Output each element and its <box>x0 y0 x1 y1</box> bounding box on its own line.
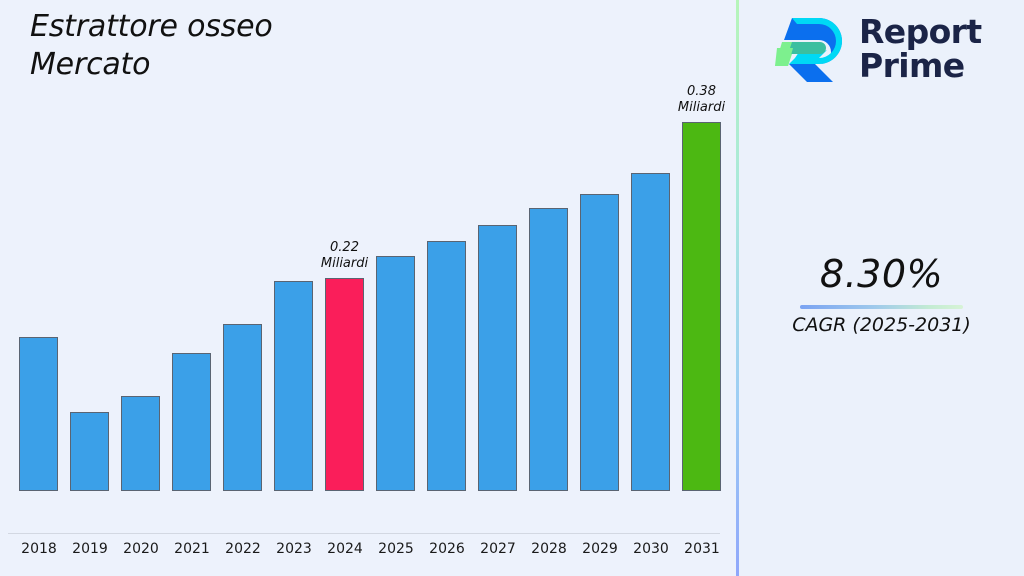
x-tick-2021: 2021 <box>166 541 218 557</box>
x-tick-2023: 2023 <box>268 541 320 557</box>
cagr-block: 8.30% CAGR (2025-2031) <box>739 252 1024 337</box>
x-tick-2019: 2019 <box>64 541 116 557</box>
brand-logo: Report Prime <box>775 12 982 86</box>
x-tick-2029: 2029 <box>574 541 626 557</box>
report-prime-r-logo-icon <box>775 12 847 86</box>
bar-2024[interactable] <box>325 278 364 491</box>
bar-2023[interactable] <box>274 281 313 491</box>
bar-2025[interactable] <box>376 256 415 491</box>
x-tick-2026: 2026 <box>421 541 473 557</box>
x-tick-2020: 2020 <box>115 541 167 557</box>
bar-group <box>580 194 619 491</box>
bar-group <box>19 337 58 491</box>
bar-group <box>478 225 517 491</box>
x-tick-2030: 2030 <box>625 541 677 557</box>
bar-group <box>223 324 262 491</box>
bar-group <box>70 412 109 491</box>
bar-group <box>427 241 466 491</box>
bar-2028[interactable] <box>529 208 568 491</box>
cagr-caption: CAGR (2025-2031) <box>739 313 1024 337</box>
bar-group <box>529 208 568 491</box>
bar-group: 0.38 Miliardi <box>682 122 721 491</box>
x-tick-2027: 2027 <box>472 541 524 557</box>
bar-2026[interactable] <box>427 241 466 491</box>
bar-2020[interactable] <box>121 396 160 491</box>
x-tick-2018: 2018 <box>13 541 65 557</box>
bar-group <box>274 281 313 491</box>
brand-name: Report Prime <box>859 15 982 83</box>
chart-screenshot: Estrattore osseo Mercato 0.22 Miliardi0.… <box>0 0 1024 576</box>
bar-2021[interactable] <box>172 353 211 491</box>
bar-value-label-2024: 0.22 Miliardi <box>303 240 386 272</box>
bar-2029[interactable] <box>580 194 619 491</box>
bar-2030[interactable] <box>631 173 670 491</box>
x-tick-2025: 2025 <box>370 541 422 557</box>
bar-2019[interactable] <box>70 412 109 491</box>
x-tick-2031: 2031 <box>676 541 728 557</box>
plot-area: 0.22 Miliardi0.38 Miliardi 2018201920202… <box>0 0 737 534</box>
bar-2027[interactable] <box>478 225 517 491</box>
bar-group: 0.22 Miliardi <box>325 278 364 491</box>
cagr-value: 8.30% <box>739 252 1024 296</box>
bar-2022[interactable] <box>223 324 262 491</box>
bar-group <box>376 256 415 491</box>
bar-value-label-2031: 0.38 Miliardi <box>660 84 743 116</box>
cagr-divider-line <box>800 305 963 309</box>
x-tick-2028: 2028 <box>523 541 575 557</box>
x-tick-2024: 2024 <box>319 541 371 557</box>
bar-group <box>121 396 160 491</box>
x-tick-2022: 2022 <box>217 541 269 557</box>
bar-group <box>631 173 670 491</box>
bar-group <box>172 353 211 491</box>
x-axis-line <box>8 533 720 534</box>
info-panel: Report Prime 8.30% CAGR (2025-2031) <box>739 0 1024 576</box>
chart-panel: Estrattore osseo Mercato 0.22 Miliardi0.… <box>0 0 737 576</box>
bar-2018[interactable] <box>19 337 58 491</box>
bar-2031[interactable] <box>682 122 721 491</box>
